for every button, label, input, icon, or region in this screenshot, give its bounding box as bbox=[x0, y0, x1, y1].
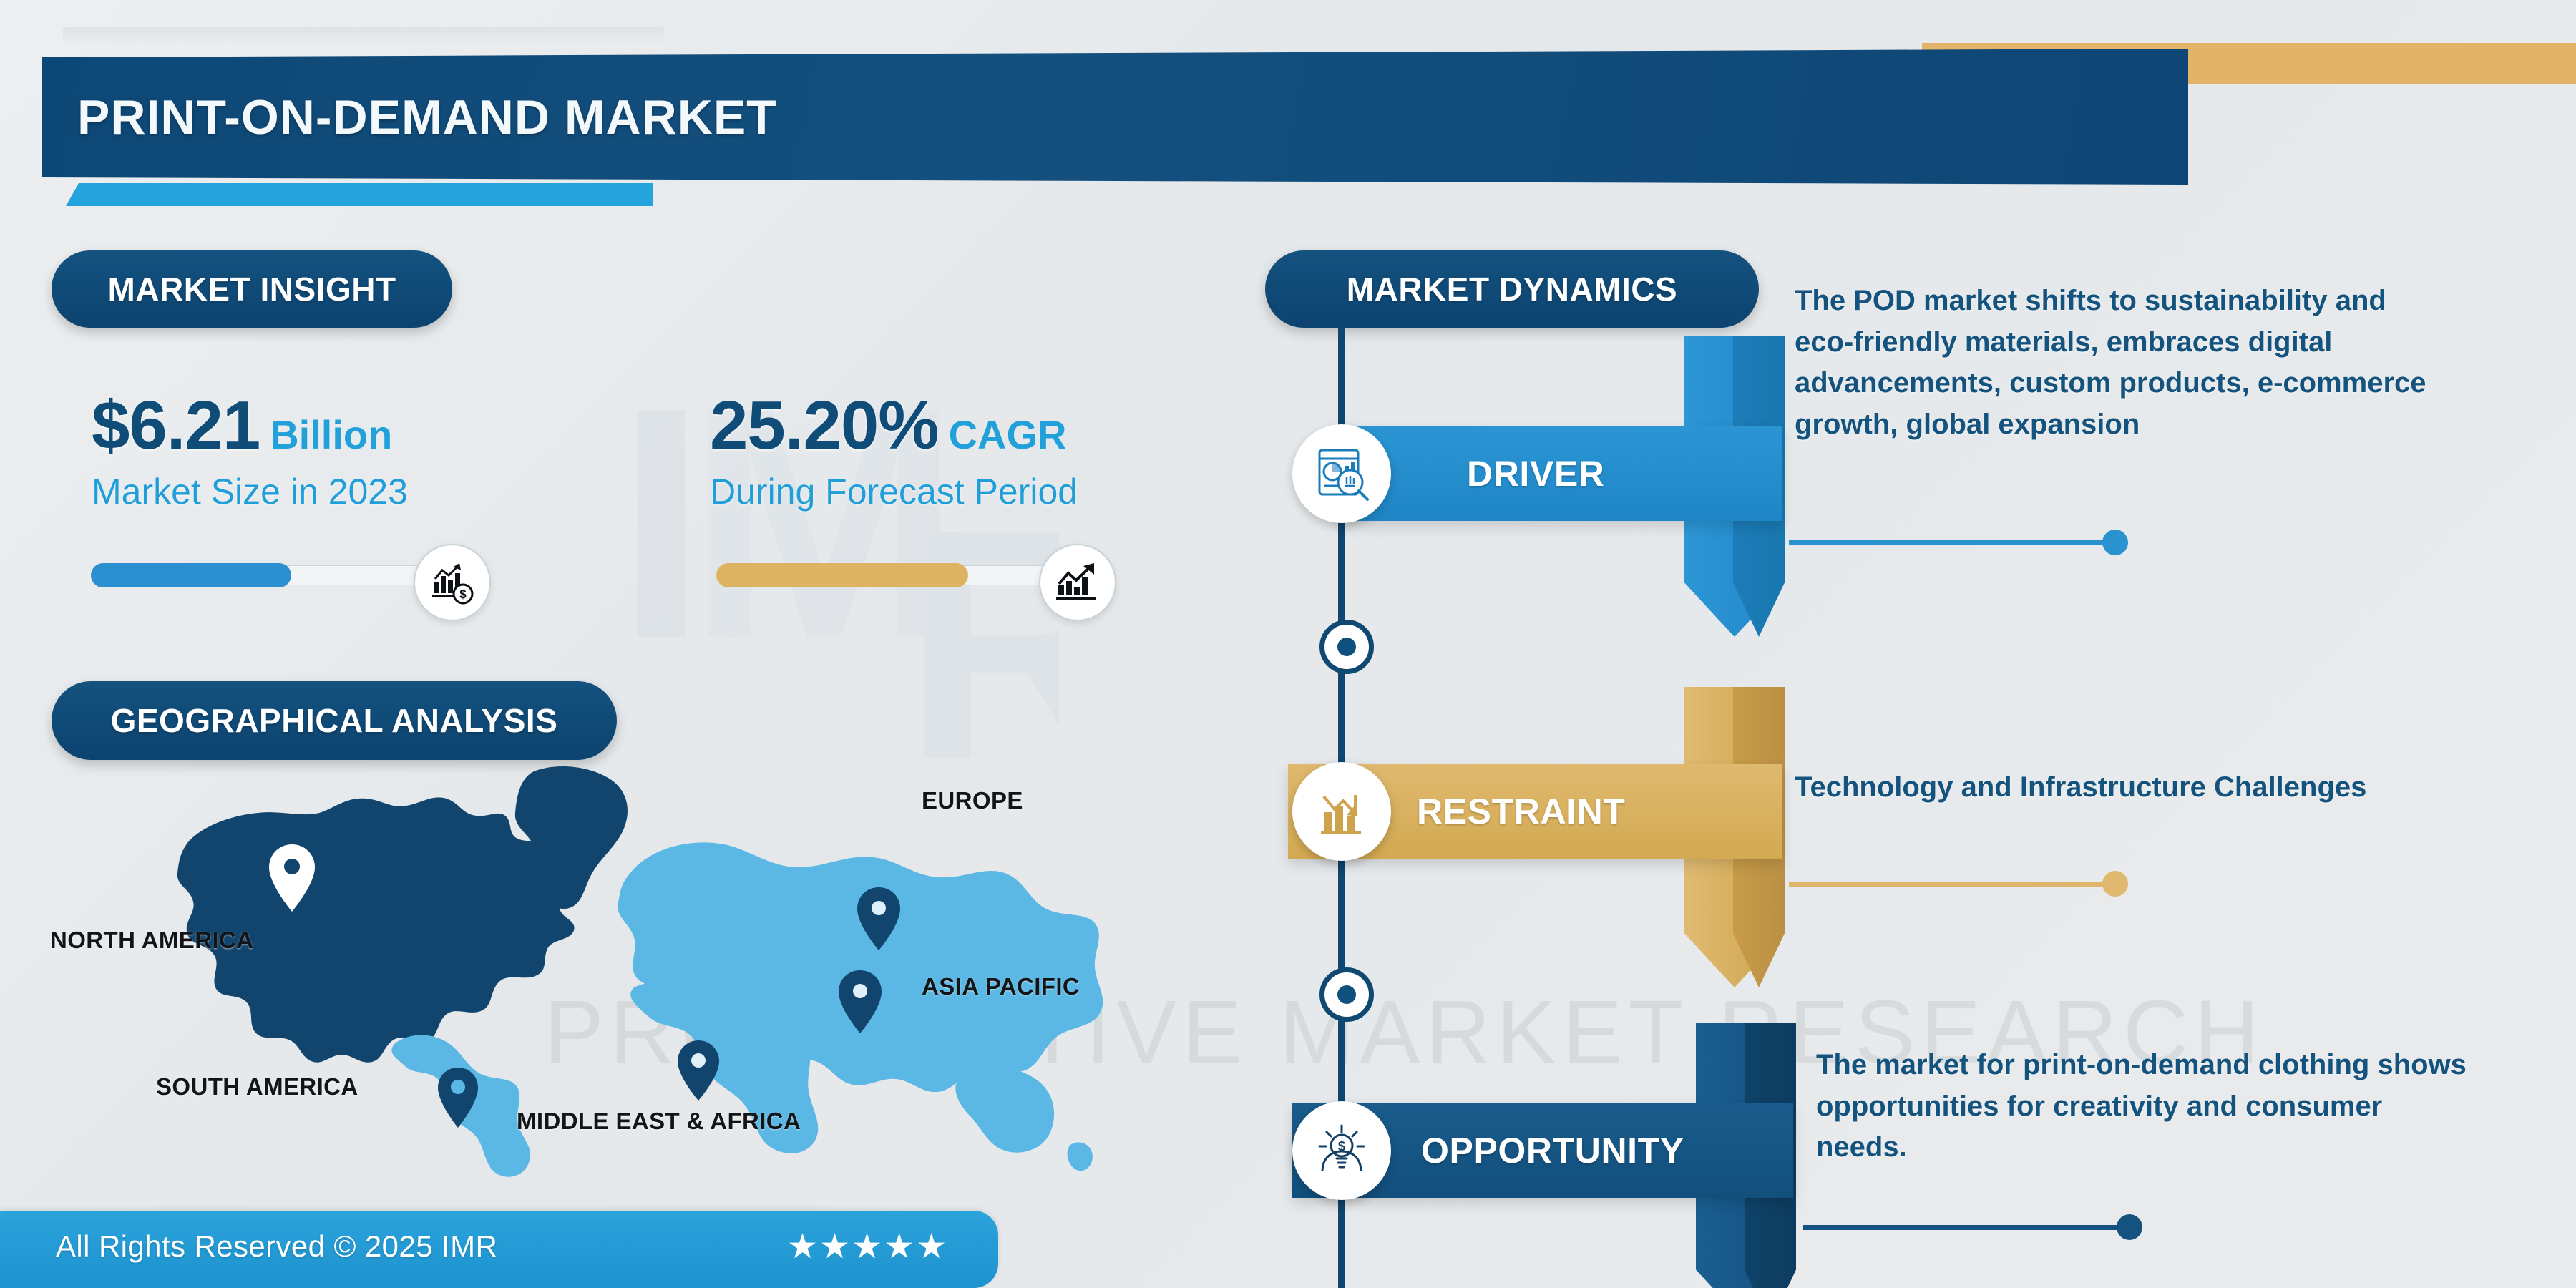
section-pill-market-insight: MARKET INSIGHT bbox=[52, 250, 452, 328]
market-dynamics-label: MARKET DYNAMICS bbox=[1347, 270, 1677, 308]
market-insight-label: MARKET INSIGHT bbox=[107, 270, 396, 308]
opportunity-connector-line bbox=[1803, 1225, 2132, 1230]
map-region-new-zealand bbox=[1068, 1142, 1093, 1171]
cagr-caption: During Forecast Period bbox=[710, 471, 1078, 512]
stat-cagr: 25.20%CAGR During Forecast Period bbox=[710, 386, 1078, 512]
footer-copyright: All Rights Reserved © 2025 IMR bbox=[56, 1229, 497, 1264]
map-label-europe: EUROPE bbox=[922, 787, 1023, 814]
svg-text:$: $ bbox=[459, 587, 467, 601]
opportunity-connector-dot bbox=[2117, 1214, 2142, 1240]
cagr-badge bbox=[1039, 544, 1116, 621]
market-size-caption: Market Size in 2023 bbox=[92, 471, 408, 512]
map-marker-middle-east-africa bbox=[678, 1040, 719, 1101]
map-region-australia bbox=[955, 1068, 1054, 1153]
driver-icon-circle bbox=[1292, 424, 1391, 523]
market-size-unit: Billion bbox=[270, 411, 392, 458]
restraint-label: RESTRAINT bbox=[1417, 791, 1626, 832]
section-pill-market-dynamics: MARKET DYNAMICS bbox=[1265, 250, 1759, 328]
infographic-canvas: I M R PROSPECTIVE MARKET RESEARCH PRINT-… bbox=[0, 0, 2576, 1288]
cagr-unit: CAGR bbox=[949, 411, 1067, 458]
stat-market-size: $6.21Billion Market Size in 2023 bbox=[92, 386, 408, 512]
cagr-progress-fill bbox=[716, 563, 968, 587]
header-shadow-strip bbox=[63, 27, 664, 47]
market-size-badge: $ bbox=[414, 544, 491, 621]
cagr-value: 25.20% bbox=[710, 386, 939, 465]
restraint-description: Technology and Infrastructure Challenges bbox=[1795, 767, 2453, 809]
opportunity-icon-circle: $ bbox=[1292, 1101, 1391, 1200]
market-size-progress-track bbox=[92, 565, 436, 585]
map-label-asia-pacific: ASIA PACIFIC bbox=[922, 973, 1080, 1000]
driver-bar[interactable]: DRIVER bbox=[1338, 426, 1782, 521]
section-pill-geographical-analysis: GEOGRAPHICAL ANALYSIS bbox=[52, 681, 617, 760]
cagr-progress-track bbox=[717, 565, 1062, 585]
driver-description: The POD market shifts to sustainability … bbox=[1795, 280, 2453, 445]
driver-label: DRIVER bbox=[1467, 453, 1605, 494]
geographical-analysis-label: GEOGRAPHICAL ANALYSIS bbox=[111, 701, 558, 740]
restraint-icon-circle bbox=[1292, 762, 1391, 861]
opportunity-description: The market for print-on-demand clothing … bbox=[1816, 1045, 2474, 1169]
lightbulb-dollar-icon: $ bbox=[1311, 1120, 1372, 1181]
page-title: PRINT-ON-DEMAND MARKET bbox=[77, 89, 777, 145]
map-label-middle-east-africa: MIDDLE EAST & AFRICA bbox=[517, 1108, 801, 1135]
growth-arrow-chart-icon bbox=[1054, 561, 1101, 604]
report-analysis-magnifier-icon bbox=[1311, 443, 1372, 504]
market-size-value: $6.21 bbox=[92, 386, 260, 465]
map-label-south-america: SOUTH AMERICA bbox=[156, 1073, 358, 1101]
timeline-node-1 bbox=[1319, 620, 1374, 674]
opportunity-label: OPPORTUNITY bbox=[1421, 1130, 1684, 1171]
bar-chart-dollar-icon: $ bbox=[429, 560, 475, 605]
map-label-north-america: NORTH AMERICA bbox=[50, 927, 253, 954]
driver-connector-dot bbox=[2102, 530, 2128, 555]
timeline-node-2 bbox=[1319, 967, 1374, 1022]
footer-rating-stars: ★★★★★ bbox=[787, 1226, 948, 1267]
declining-bar-chart-icon bbox=[1311, 781, 1372, 842]
header-underline-accent bbox=[66, 183, 653, 206]
driver-connector-line bbox=[1789, 540, 2118, 545]
restraint-connector-dot bbox=[2102, 871, 2128, 897]
market-size-progress-fill bbox=[91, 563, 291, 587]
restraint-connector-line bbox=[1789, 882, 2118, 887]
